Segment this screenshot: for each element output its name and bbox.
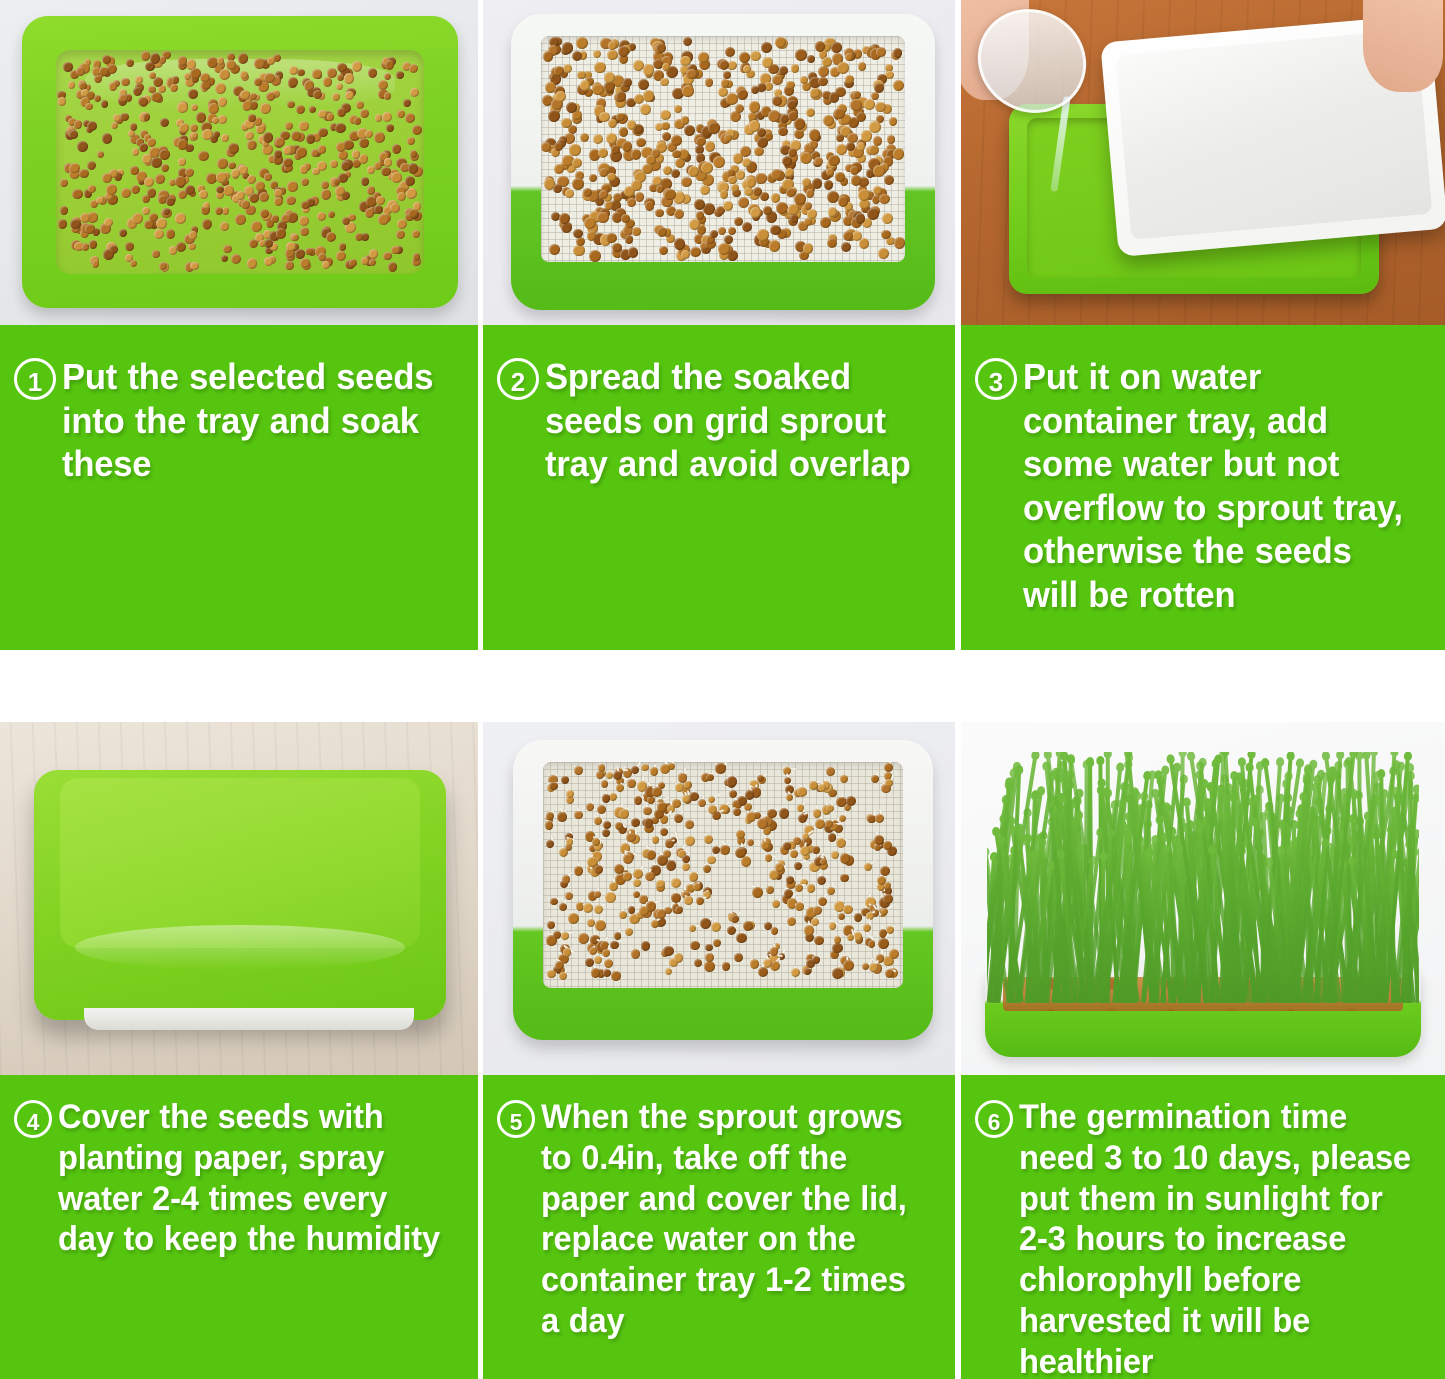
- tray-interior: [56, 50, 424, 274]
- microgreens-canopy: [987, 752, 1419, 1003]
- step-card-2: 2 Spread the soaked seeds on grid sprout…: [483, 0, 955, 650]
- germinated-seed-scatter: [543, 762, 903, 988]
- step-card-3: 3 Put it on water container tray, add so…: [961, 0, 1445, 650]
- step-photo-3: [961, 0, 1445, 325]
- seed-scatter: [56, 50, 424, 274]
- step-card-6: 6 The germination time need 3 to 10 days…: [961, 722, 1445, 1379]
- step-photo-2: [483, 0, 955, 325]
- infographic-sheet: 1 Put the selected seeds into the tray a…: [0, 0, 1445, 1379]
- step-caption-3: 3 Put it on water container tray, add so…: [961, 325, 1445, 650]
- steps-row-bottom: 4 Cover the seeds with planting paper, s…: [0, 722, 1445, 1379]
- step-number-badge-3: 3: [975, 358, 1017, 400]
- step-text-6: The germination time need 3 to 10 days, …: [1019, 1097, 1413, 1379]
- step-photo-4: [0, 722, 478, 1075]
- step-number-badge-5: 5: [497, 1100, 535, 1138]
- grid-surface: [543, 762, 903, 988]
- step-photo-1: [0, 0, 478, 325]
- step-text-2: Spread the soaked seeds on grid sprout t…: [545, 355, 923, 486]
- step-number-badge-6: 6: [975, 1100, 1013, 1138]
- grid-sprout-tray-illustration: [511, 14, 935, 310]
- green-lid-illustration: [34, 770, 446, 1020]
- step-number-badge-1: 1: [14, 358, 56, 400]
- seed-scatter: [541, 36, 905, 262]
- hand-right: [1363, 0, 1443, 92]
- step-photo-5: [483, 722, 955, 1075]
- steps-row-top: 1 Put the selected seeds into the tray a…: [0, 0, 1445, 650]
- step-photo-6: [961, 722, 1445, 1075]
- step-card-1: 1 Put the selected seeds into the tray a…: [0, 0, 478, 650]
- grid-surface: [541, 36, 905, 262]
- step-card-4: 4 Cover the seeds with planting paper, s…: [0, 722, 478, 1379]
- step-caption-5: 5 When the sprout grows to 0.4in, take o…: [483, 1075, 955, 1379]
- step-caption-1: 1 Put the selected seeds into the tray a…: [0, 325, 478, 650]
- tray-under-lid: [84, 1008, 414, 1030]
- step-text-5: When the sprout grows to 0.4in, take off…: [541, 1097, 923, 1342]
- grid-sprout-tray-illustration: [513, 740, 933, 1040]
- lid-top-face: [60, 778, 420, 948]
- step-text-4: Cover the seeds with planting paper, spr…: [58, 1097, 446, 1260]
- step-caption-2: 2 Spread the soaked seeds on grid sprout…: [483, 325, 955, 650]
- step-caption-4: 4 Cover the seeds with planting paper, s…: [0, 1075, 478, 1379]
- step-number-badge-2: 2: [497, 358, 539, 400]
- green-tray-illustration: [22, 16, 458, 308]
- step-text-3: Put it on water container tray, add some…: [1023, 355, 1413, 616]
- lid-highlight: [75, 925, 405, 970]
- step-text-1: Put the selected seeds into the tray and…: [62, 355, 446, 486]
- step-number-badge-4: 4: [14, 1100, 52, 1138]
- step-caption-6: 6 The germination time need 3 to 10 days…: [961, 1075, 1445, 1379]
- step-card-5: 5 When the sprout grows to 0.4in, take o…: [483, 722, 955, 1379]
